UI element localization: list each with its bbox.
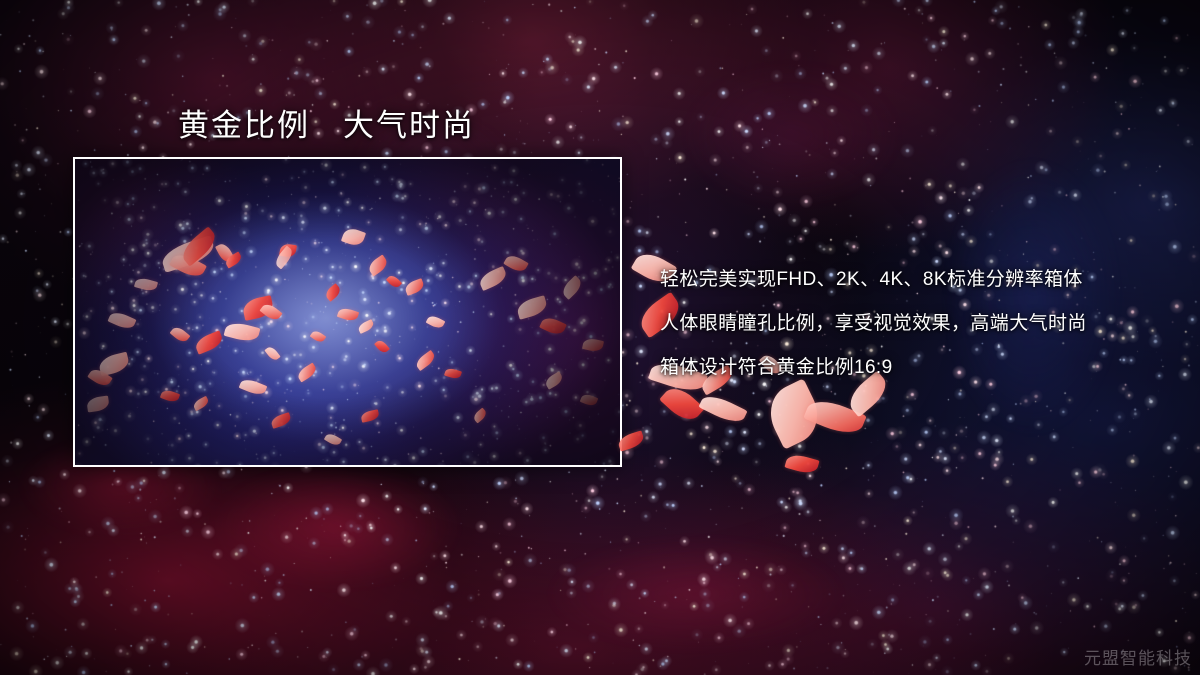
body-copy: 轻松完美实现FHD、2K、4K、8K标准分辨率箱体 人体眼睛瞳孔比例，享受视觉效… xyxy=(660,258,1160,390)
petal xyxy=(616,430,645,451)
watermark: 元盟智能科技 xyxy=(1084,644,1192,669)
copy-line-2: 人体眼睛瞳孔比例，享受视觉效果，高端大气时尚 xyxy=(660,302,1160,346)
copy-line-1: 轻松完美实现FHD、2K、4K、8K标准分辨率箱体 xyxy=(660,258,1160,302)
petal xyxy=(698,391,747,427)
presentation-slide: 黄金比例 大气时尚 轻松完美实现FHD、2K、4K、8K标准分辨率箱体 人体眼睛… xyxy=(0,0,1200,675)
copy-line-3: 箱体设计符合黄金比例16:9 xyxy=(660,346,1160,390)
petal xyxy=(784,452,819,476)
